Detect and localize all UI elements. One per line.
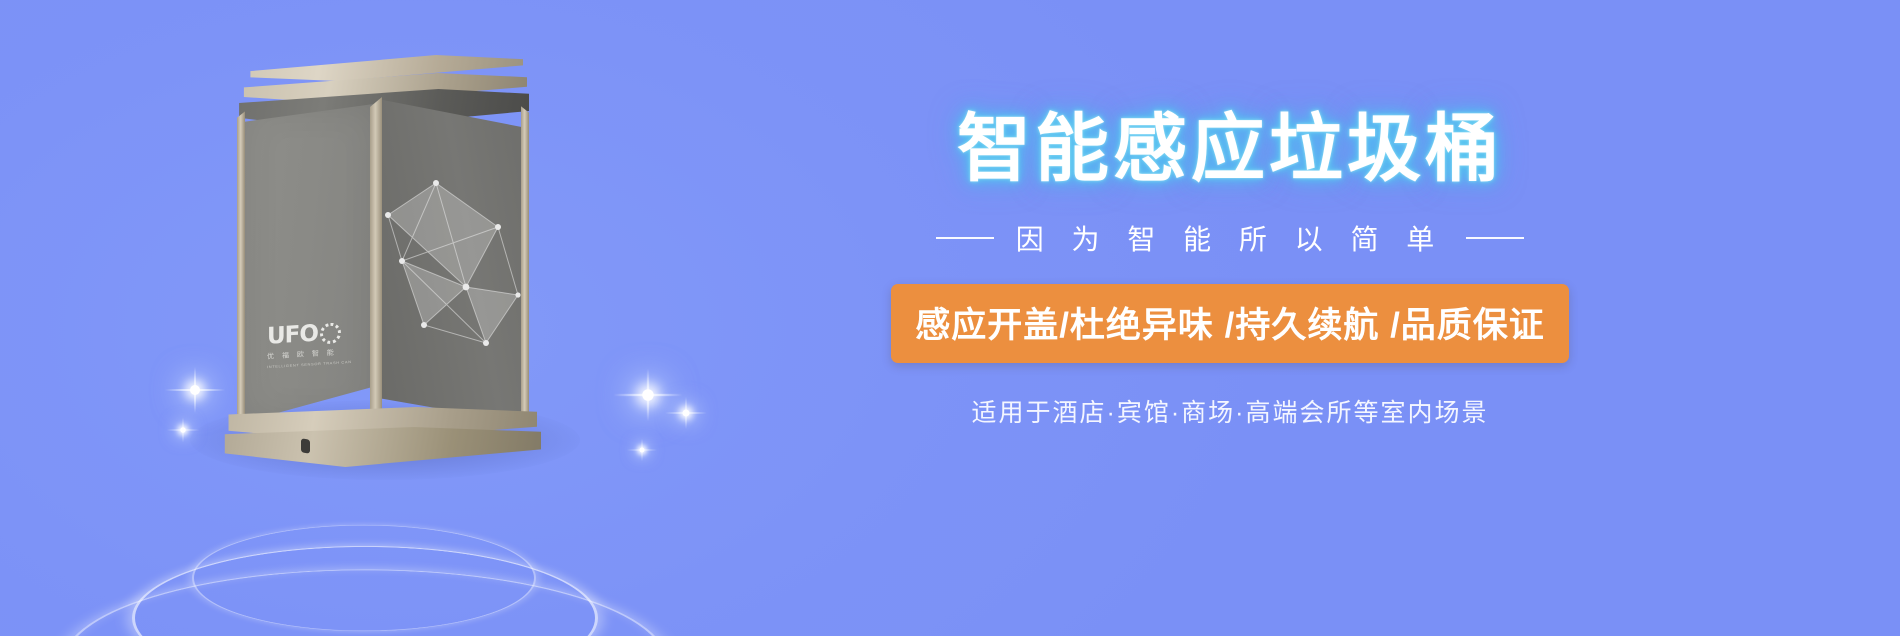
bin-sensor-icon <box>301 438 310 453</box>
brand-logo: UFO 优 福 欧 智 能 INTELLIGENT SENSOR TRASH C… <box>267 320 357 388</box>
promo-banner: UFO 优 福 欧 智 能 INTELLIGENT SENSOR TRASH C… <box>0 0 1900 636</box>
subheadline-rule-right <box>1466 237 1524 239</box>
subheadline-text: 因 为 智 能 所 以 简 单 <box>1016 218 1444 258</box>
feature-badge: 感应开盖/杜绝异味 /持久续航 /品质保证 <box>891 284 1569 363</box>
product-scene: UFO 优 福 欧 智 能 INTELLIGENT SENSOR TRASH C… <box>40 0 740 636</box>
headline: 智能感应垃圾桶 <box>860 110 1600 188</box>
subheadline-row: 因 为 智 能 所 以 简 单 <box>860 218 1600 258</box>
usage-scenario-note: 适用于酒店·宾馆·商场·高端会所等室内场景 <box>860 393 1600 429</box>
brand-wordmark: UFO <box>267 323 318 349</box>
network-graphic-icon <box>378 175 530 375</box>
ripple-ring-inner <box>192 525 536 631</box>
product-image-trash-bin: UFO 优 福 欧 智 能 INTELLIGENT SENSOR TRASH C… <box>215 55 545 445</box>
logo-ring-icon <box>320 322 341 344</box>
copy-block: 智能感应垃圾桶 因 为 智 能 所 以 简 单 感应开盖/杜绝异味 /持久续航 … <box>860 110 1600 429</box>
subheadline-rule-left <box>936 237 994 239</box>
bin-edge-left <box>237 105 245 423</box>
